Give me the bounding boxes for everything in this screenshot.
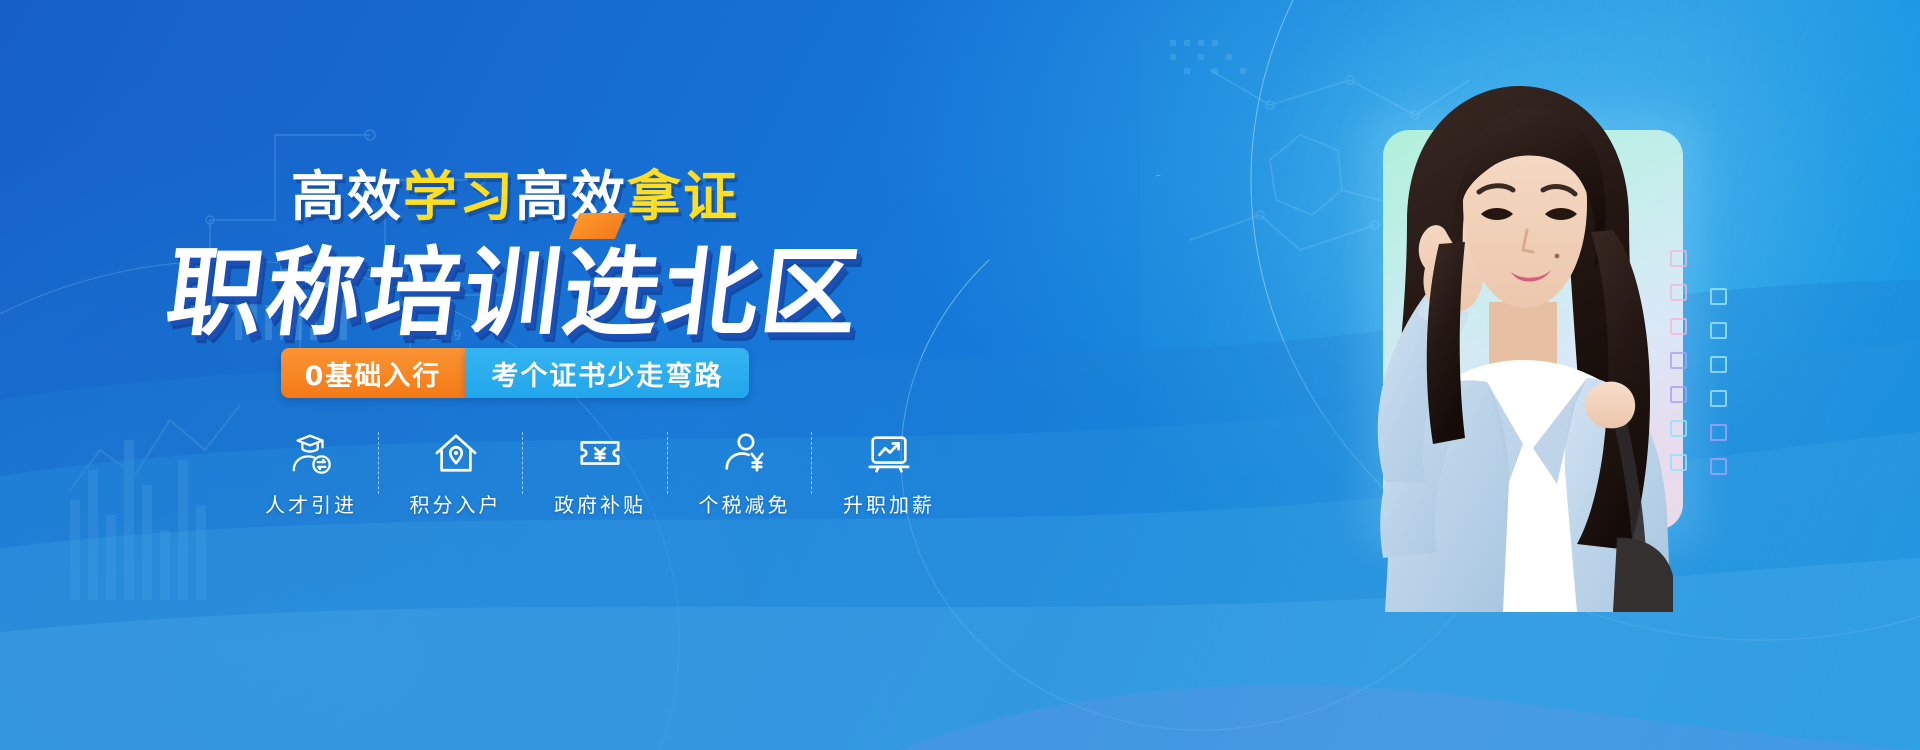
feature-label: 政府补贴	[554, 489, 646, 518]
promo-banner: 2.39	[0, 0, 1920, 750]
headline-primary: 职称培训选北区	[0, 215, 1039, 354]
feature-talent-introduction[interactable]: 人才引进	[250, 430, 372, 518]
headline-primary-pre: 职称培训	[161, 237, 571, 349]
feature-icon-row: 人才引进 积分入户	[250, 430, 950, 518]
house-pin-icon	[433, 430, 479, 476]
tagline-badge-row: 0基础入行 考个证书少走弯路	[0, 348, 1030, 398]
feature-label: 升职加薪	[843, 489, 935, 518]
badge-zero-basis[interactable]: 0基础入行	[281, 348, 466, 398]
headline-primary-accent: 选	[557, 237, 670, 349]
growth-chart-board-icon	[866, 430, 912, 476]
feature-label: 人才引进	[265, 489, 357, 518]
feature-points-residency[interactable]: 积分入户	[395, 430, 517, 518]
feature-tax-reduction[interactable]: 个税减免	[684, 430, 806, 518]
feature-label: 积分入户	[410, 489, 502, 518]
orange-accent-mark	[568, 213, 625, 239]
feature-label: 个税减免	[699, 489, 791, 518]
headline-primary-post: 北区	[656, 237, 868, 349]
coupon-ticket-icon	[577, 430, 623, 476]
headline-primary-accent-wrap: 选	[556, 215, 672, 354]
feature-promotion-raise[interactable]: 升职加薪	[828, 430, 950, 518]
graduate-person-icon	[288, 430, 334, 476]
person-yuan-icon	[722, 430, 768, 476]
badge-certificate-shortcut[interactable]: 考个证书少走弯路	[465, 348, 749, 398]
banner-content: 高效学习高效拿证 职称培训选北区 0基础入行 考个证书少走弯路	[0, 0, 1030, 750]
hero-figure-block	[1165, 0, 1865, 750]
feature-government-subsidy[interactable]: 政府补贴	[539, 430, 661, 518]
woman-pointing-illustration	[1257, 52, 1777, 612]
